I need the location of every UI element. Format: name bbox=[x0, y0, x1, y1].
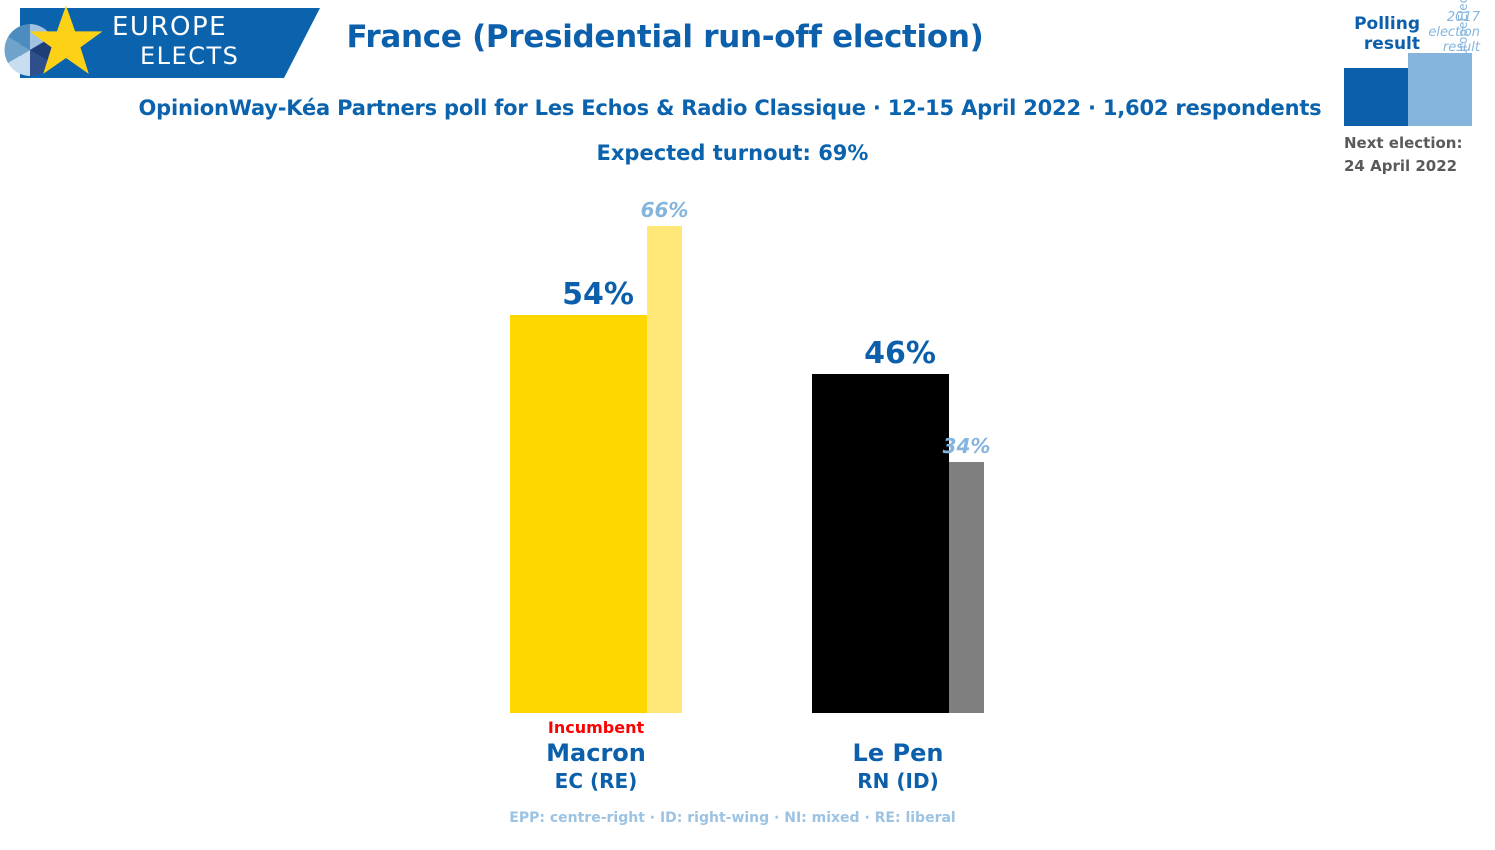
candidate-party: RN (ID) bbox=[752, 768, 1044, 794]
bar-previous-le-pen bbox=[949, 462, 984, 713]
candidate-label-macron: IncumbentMacronEC (RE) bbox=[450, 718, 742, 794]
value-label-previous-le-pen: 34% bbox=[927, 434, 1007, 458]
incumbent-badge bbox=[752, 718, 1044, 738]
incumbent-badge: Incumbent bbox=[450, 718, 742, 738]
bar-poll-le-pen bbox=[812, 374, 949, 713]
candidate-name: Le Pen bbox=[752, 738, 1044, 768]
value-label-poll-le-pen: 46% bbox=[851, 336, 949, 371]
value-label-previous-macron: 66% bbox=[625, 198, 705, 222]
bar-previous-macron bbox=[647, 226, 682, 713]
candidate-label-le-pen: Le PenRN (ID) bbox=[752, 718, 1044, 794]
candidate-name: Macron bbox=[450, 738, 742, 768]
candidate-party: EC (RE) bbox=[450, 768, 742, 794]
value-label-poll-macron: 54% bbox=[549, 277, 647, 312]
bar-chart-plot-area: 54%66%IncumbentMacronEC (RE)46%34%Le Pen… bbox=[0, 0, 1495, 850]
bar-poll-macron bbox=[510, 315, 647, 713]
party-family-footnote: EPP: centre-right · ID: right-wing · NI:… bbox=[0, 810, 1465, 826]
